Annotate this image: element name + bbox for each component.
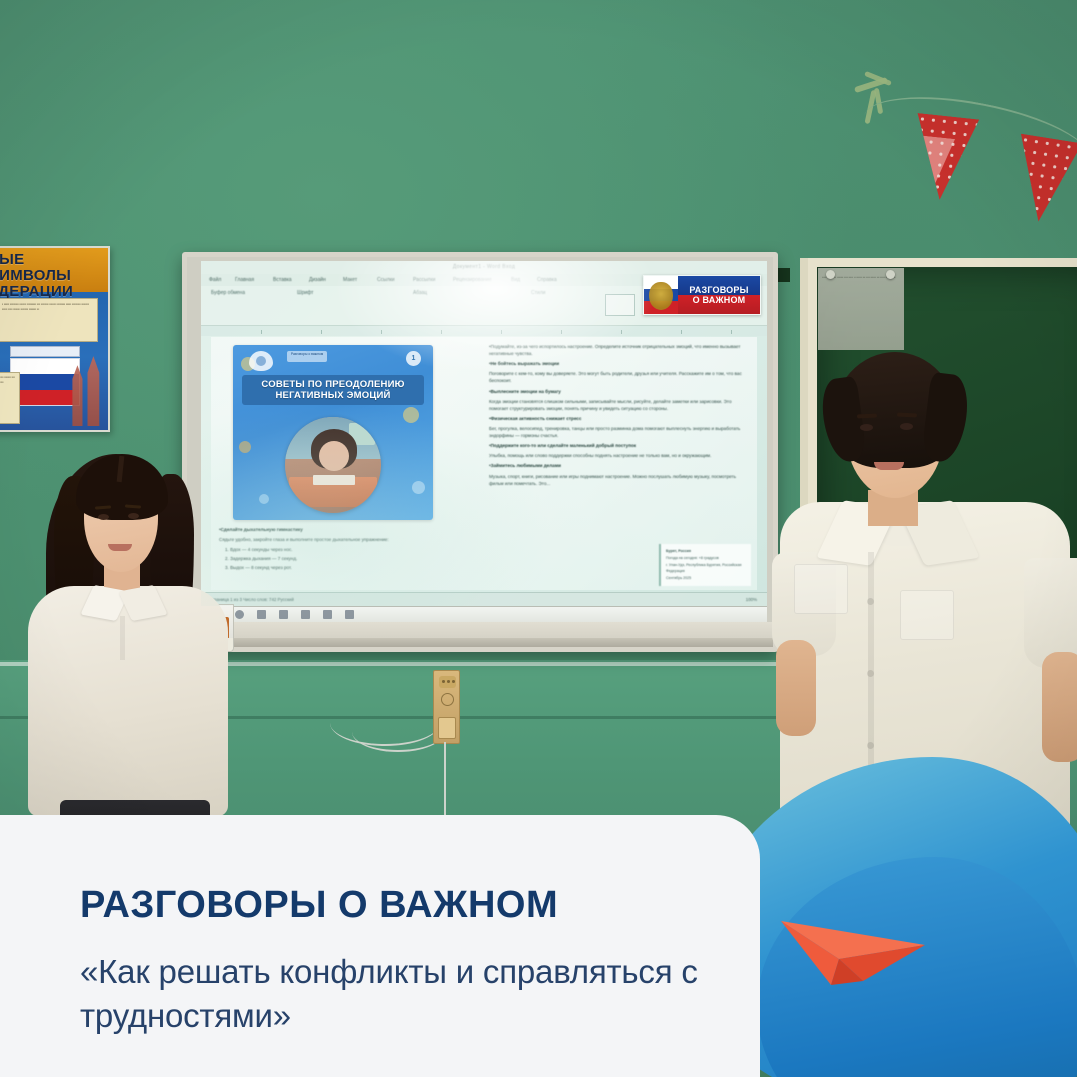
right-heading-5: •Займитесь любимыми делами [489, 462, 749, 469]
infobox-line2: г. Улан-Удэ, Республика Бурятия, Российс… [666, 562, 746, 576]
right-heading-1: •Не бойтесь выражать эмоции [489, 360, 749, 367]
state-symbols-poster: НЫЕ СИМВОЛЫ ЕДЕРАЦИИ ▪ ▪▪▪▪▪ ▪▪▪▪▪▪▪▪ ▪▪… [0, 246, 110, 432]
folder-icon[interactable] [257, 610, 266, 619]
slide-title: СОВЕТЫ ПО ПРЕОДОЛЕНИЮ НЕГАТИВНЫХ ЭМОЦИЙ [242, 375, 424, 405]
right-body-4: Улыбка, помощь или слово поддержки спосо… [489, 452, 749, 459]
list-item: 3. Выдох — 8 секунд через рот. [225, 564, 479, 572]
ribbon-group-font: Шрифт [297, 290, 313, 296]
screenshot-root: НЫЕ СИМВОЛЫ ЕДЕРАЦИИ ▪ ▪▪▪▪▪ ▪▪▪▪▪▪▪▪ ▪▪… [0, 0, 1077, 1077]
right-body-3: Бег, прогулка, велосипед, тренировка, та… [489, 425, 749, 439]
tab-references[interactable]: Ссылки [377, 277, 395, 283]
tab-home[interactable]: Главная [235, 277, 254, 283]
right-heading-3: •Физическая активность снижает стресс [489, 415, 749, 422]
tab-layout[interactable]: Макет [343, 277, 357, 283]
chalkboard-paper-sheet: ▪▪▪▪▪ ▪▪▪▪▪▪ ▪▪▪ ▪▪▪▪▪▪▪ ▪▪▪▪ ▪▪▪▪▪ ▪▪ ▪… [818, 268, 904, 350]
page-subtitle: «Как решать конфликты и справляться с тр… [80, 950, 720, 1039]
list-item: 2. Задержка дыхания — 7 секунд. [225, 555, 479, 563]
word-document-body[interactable]: Разговоры о важном 1 СОВЕТЫ ПО ПРЕОДОЛЕН… [211, 337, 757, 590]
student-girl [24, 440, 254, 860]
right-body-2: Когда эмоции становятся слишком сильными… [489, 398, 749, 412]
mail-icon[interactable] [345, 610, 354, 619]
razgovory-logo-badge: РАЗГОВОРЫ О ВАЖНОМ [643, 275, 761, 315]
coat-of-arms-icon [649, 282, 673, 310]
right-heading-2: •Выплесните эмоции на бумагу [489, 388, 749, 395]
word-titlebar: Документ1 - Word Вход [201, 261, 767, 274]
word-status-bar: Страница 1 из 3 Число слов: 742 Русский … [201, 592, 767, 606]
slide-photo [285, 417, 381, 513]
infobox-line1: Погода на сегодня: +8 градусов [666, 555, 746, 562]
breathing-steps-list: 1. Вдох — 4 секунды через нос. 2. Задерж… [225, 546, 479, 571]
status-zoom-level: 100% [746, 597, 757, 602]
wall-socket-panel[interactable] [433, 670, 460, 744]
poster-side-card: ▪▪▪▪ ▪▪▪▪▪ ▪▪▪ ▪▪▪▪▪▪ ▪▪▪ ▪▪▪▪ ▪▪▪▪▪ ▪▪▪ [0, 372, 20, 424]
brand-text-block: РАЗГОВОРЫ О ВАЖНОМ «Как решать конфликты… [80, 886, 720, 1039]
slide-brand-tag: Разговоры о важном [287, 351, 327, 362]
poster-label [10, 346, 80, 357]
whiteboard-lower-surface [187, 622, 773, 647]
ribbon-group-styles: Стили [531, 290, 545, 296]
power-plug-icon [438, 717, 456, 739]
list-item: 1. Вдох — 4 секунды через нос. [225, 546, 479, 554]
magnet [886, 270, 895, 279]
tab-help[interactable]: Справка [537, 277, 557, 283]
poster-text-card: ▪ ▪▪▪▪▪ ▪▪▪▪▪▪▪▪ ▪▪▪▪▪▪ ▪▪▪▪▪▪▪▪▪ ▪▪▪ ▪▪… [0, 298, 98, 342]
russian-flag-icon [10, 358, 80, 406]
magnet [826, 270, 835, 279]
wall-fixture [778, 268, 790, 282]
tab-file[interactable]: Файл [209, 277, 221, 283]
slide-emblem-icon [249, 351, 273, 371]
tab-mailings[interactable]: Рассылки [413, 277, 435, 283]
document-right-column: •Подумайте, из-за чего испортилось настр… [489, 343, 749, 584]
weather-infobox: Бурят, Россия Погода на сегодня: +8 град… [659, 544, 751, 586]
tab-insert[interactable]: Вставка [273, 277, 292, 283]
left-intro: Сядьте удобно, закройте глаза и выполнит… [219, 536, 479, 543]
tab-design[interactable]: Дизайн [309, 277, 326, 283]
tab-review[interactable]: Рецензирование [453, 277, 492, 283]
right-heading-4: •Поддержите кого-то или сделайте маленьк… [489, 442, 749, 449]
socket-outlet-icon [439, 676, 456, 688]
poster-heading: НЫЕ СИМВОЛЫ ЕДЕРАЦИИ [0, 248, 108, 292]
whiteboard-tray [187, 638, 773, 647]
word-ruler [201, 326, 767, 336]
ribbon-group-paragraph: Абзац [413, 290, 427, 296]
socket-switch-icon[interactable] [441, 693, 454, 706]
ribbon-group-clipboard: Буфер обмена [211, 290, 245, 296]
left-heading: •Сделайте дыхательную гимнастику [219, 526, 479, 533]
projected-screen: Документ1 - Word Вход Файл Главная Встав… [201, 261, 767, 606]
embedded-slide-image: Разговоры о важном 1 СОВЕТЫ ПО ПРЕОДОЛЕН… [233, 345, 433, 520]
badge-line-1: РАЗГОВОРЫ [689, 285, 748, 295]
media-icon[interactable] [323, 610, 332, 619]
right-body-5: Музыка, спорт, книги, рисование или игры… [489, 473, 749, 487]
infobox-line3: Сентябрь 2025 [666, 575, 746, 582]
right-body-0: •Подумайте, из-за чего испортилось настр… [489, 343, 749, 357]
tab-view[interactable]: Вид [511, 277, 520, 283]
os-taskbar[interactable] [201, 606, 767, 622]
style-gallery-item[interactable] [605, 294, 635, 316]
interactive-whiteboard[interactable]: Документ1 - Word Вход Файл Главная Встав… [182, 252, 778, 652]
girl-polo-shirt [28, 586, 228, 816]
badge-line-2: О ВАЖНОМ [693, 295, 746, 305]
word-icon[interactable] [301, 610, 310, 619]
browser-icon[interactable] [279, 610, 288, 619]
right-body-1: Поговорите с кем-то, кому вы доверяете. … [489, 370, 749, 384]
page-title: РАЗГОВОРЫ О ВАЖНОМ [80, 886, 720, 924]
slide-number-badge: 1 [406, 351, 421, 366]
document-left-column: Разговоры о важном 1 СОВЕТЫ ПО ПРЕОДОЛЕН… [219, 343, 479, 584]
cable [352, 712, 444, 752]
infobox-title: Бурят, Россия [666, 548, 746, 555]
paper-plane-icon [777, 889, 927, 993]
word-title-text: Документ1 - Word Вход [453, 264, 515, 270]
